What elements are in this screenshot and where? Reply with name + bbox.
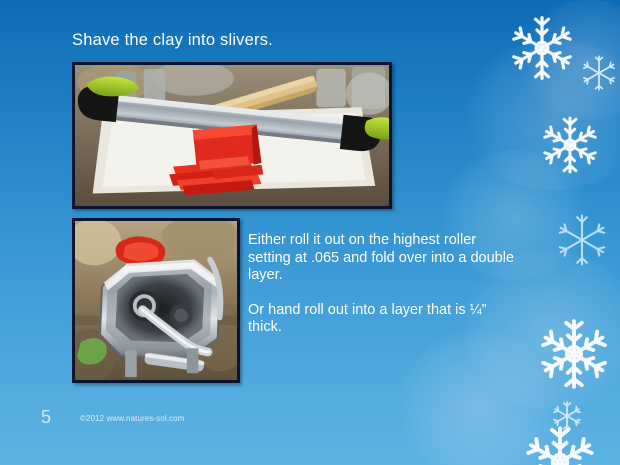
body-text: Either roll it out on the highest roller… xyxy=(248,232,516,337)
snowflake-icon xyxy=(520,422,600,465)
clay-shaving-illustration xyxy=(75,65,389,206)
snowflake-icon xyxy=(506,12,578,84)
snowflake-icon xyxy=(549,398,585,434)
mist-blob xyxy=(460,40,620,190)
snowflake-icon xyxy=(535,315,613,393)
snowflake-icon xyxy=(578,52,620,94)
slide: Shave the clay into slivers. xyxy=(0,0,620,465)
copyright-text: ©2012 www.natures-sol.com xyxy=(80,414,184,423)
mist-blob xyxy=(400,330,560,465)
clay-shaving-photo xyxy=(72,62,392,209)
clay-roller-photo xyxy=(72,218,240,383)
body-paragraph-2: Or hand roll out into a layer that is ¼”… xyxy=(248,302,516,337)
page-number: 5 xyxy=(41,407,51,428)
snowflake-icon xyxy=(552,210,612,270)
snowflake-icon xyxy=(537,112,603,178)
clay-roller-illustration xyxy=(75,221,237,380)
slide-title: Shave the clay into slivers. xyxy=(72,31,273,50)
mist-blob xyxy=(520,0,620,120)
body-paragraph-1: Either roll it out on the highest roller… xyxy=(248,232,516,285)
